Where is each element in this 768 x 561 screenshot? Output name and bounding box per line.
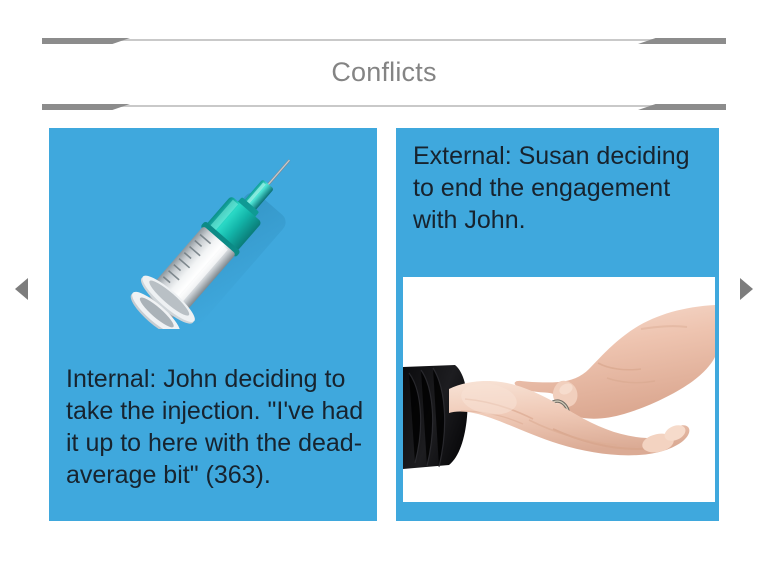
conflict-card-internal-text: Internal: John deciding to take the inje… bbox=[66, 363, 366, 491]
title-rule-top-line bbox=[42, 39, 726, 41]
title-rule-bottom bbox=[42, 104, 726, 110]
previous-slide-arrow-icon[interactable] bbox=[15, 278, 28, 300]
syringe-icon bbox=[104, 134, 334, 329]
conflict-card-external-text: External: Susan deciding to end the enga… bbox=[413, 140, 713, 236]
page-title: Conflicts bbox=[0, 52, 768, 92]
title-rule-top bbox=[42, 38, 726, 44]
conflict-card-external[interactable]: External: Susan deciding to end the enga… bbox=[396, 128, 719, 521]
title-rule-top-left-cap bbox=[42, 38, 130, 44]
title-rule-bottom-line bbox=[42, 105, 726, 107]
title-rule-bottom-left-cap bbox=[42, 104, 130, 110]
conflict-card-internal[interactable]: Internal: John deciding to take the inje… bbox=[49, 128, 377, 521]
next-slide-arrow-icon[interactable] bbox=[740, 278, 753, 300]
ring-handoff-photo bbox=[403, 277, 715, 502]
title-banner: Conflicts bbox=[0, 38, 768, 110]
